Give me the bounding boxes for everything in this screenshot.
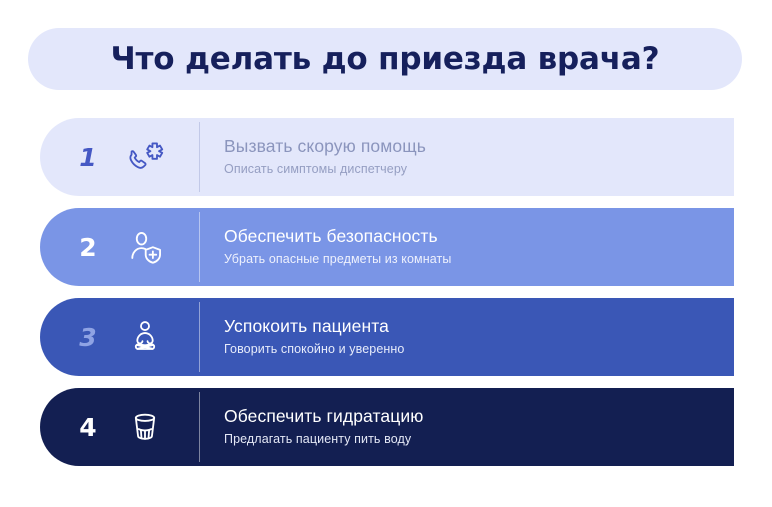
- step-row[interactable]: 2 Обеспечить безопасность Убрать опасные…: [40, 208, 734, 286]
- step-number: 4: [74, 415, 102, 440]
- step-number: 2: [74, 235, 102, 260]
- step-content: Обеспечить безопасность Убрать опасные п…: [200, 208, 734, 286]
- step-marker: 2: [40, 208, 200, 286]
- page-title: Что делать до приезда врача?: [111, 44, 660, 75]
- step-row[interactable]: 1 Вызвать скорую помощь Описать симптомы…: [40, 118, 734, 196]
- step-title: Успокоить пациента: [224, 317, 718, 336]
- step-content: Вызвать скорую помощь Описать симптомы д…: [200, 118, 734, 196]
- step-subtitle: Описать симптомы диспетчеру: [224, 163, 718, 177]
- step-subtitle: Говорить спокойно и уверенно: [224, 343, 718, 357]
- step-content: Обеспечить гидратацию Предлагать пациент…: [200, 388, 734, 466]
- person-shield-plus-icon: [124, 226, 166, 268]
- step-title: Обеспечить гидратацию: [224, 407, 718, 426]
- step-marker: 3: [40, 298, 200, 376]
- step-number: 3: [74, 325, 102, 350]
- step-marker: 4: [40, 388, 200, 466]
- step-row[interactable]: 3 Успокоить пациента Говорить спокойно и…: [40, 298, 734, 376]
- step-row[interactable]: 4 Обеспечить гидратацию Предлагать пацие…: [40, 388, 734, 466]
- step-title: Вызвать скорую помощь: [224, 137, 718, 156]
- step-subtitle: Убрать опасные предметы из комнаты: [224, 253, 718, 267]
- water-glass-icon: [124, 406, 166, 448]
- step-title: Обеспечить безопасность: [224, 227, 718, 246]
- steps-list: 1 Вызвать скорую помощь Описать симптомы…: [40, 118, 734, 466]
- step-subtitle: Предлагать пациенту пить воду: [224, 433, 718, 447]
- phone-medical-cross-icon: [124, 136, 166, 178]
- page-title-banner: Что делать до приезда врача?: [28, 28, 742, 90]
- meditating-person-icon: [124, 316, 166, 358]
- step-marker: 1: [40, 118, 200, 196]
- step-number: 1: [74, 145, 102, 170]
- step-content: Успокоить пациента Говорить спокойно и у…: [200, 298, 734, 376]
